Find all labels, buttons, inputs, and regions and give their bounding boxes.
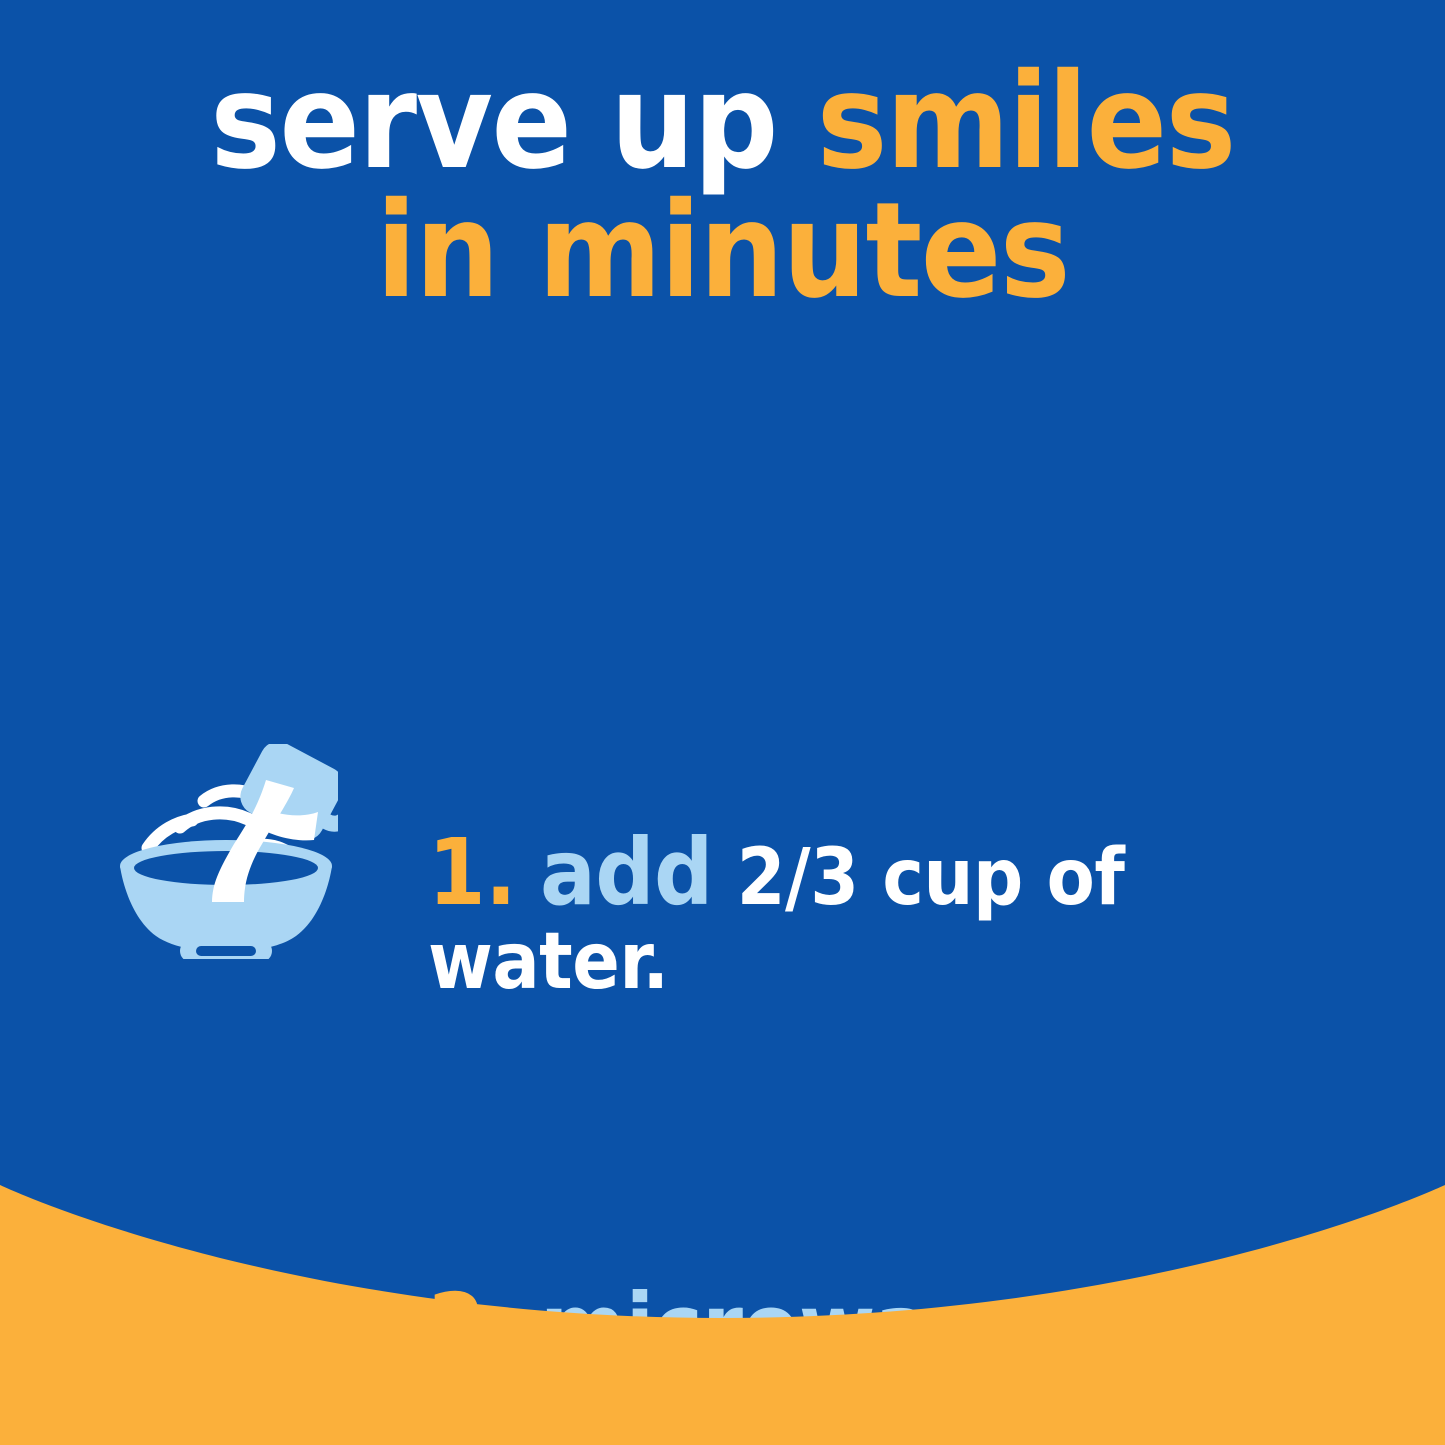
headline-line-2: in minutes [0, 187, 1445, 316]
headline-line-1: serve up smiles [0, 58, 1445, 187]
page-title: serve up smiles in minutes [0, 58, 1445, 317]
step-1: 1. add 2/3 cup of water. [0, 370, 1445, 590]
step-2: 3.5 2. microwave on high 3.5 to 4 minute… [0, 640, 1445, 900]
step-3: 3. add cheese sauce mix. Enjoy! [0, 920, 1445, 1160]
bottom-wave-decoration [0, 1150, 1445, 1445]
instructions-poster: serve up smiles in minutes [0, 0, 1445, 1445]
